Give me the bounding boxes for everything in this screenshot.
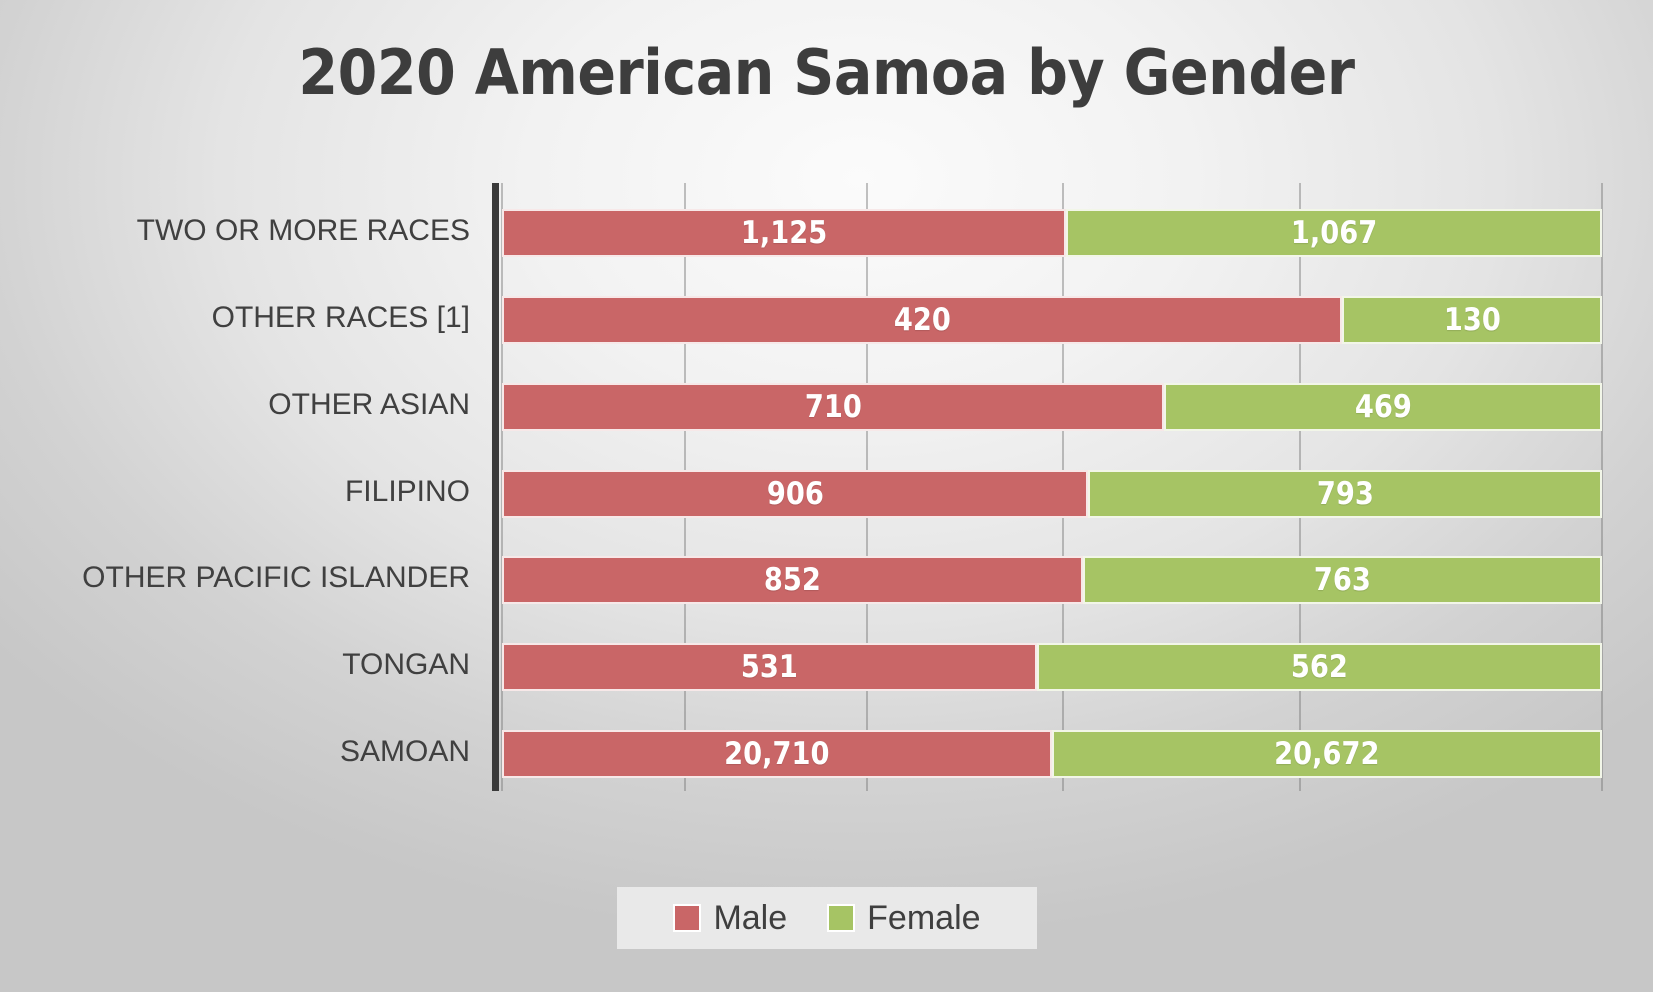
- category-axis: TWO OR MORE RACESOTHER RACES [1]OTHER AS…: [0, 183, 494, 791]
- category-label-6: SAMOAN: [0, 737, 470, 767]
- bar-value-label-female: 20,672: [1274, 736, 1379, 772]
- bar-segment-female[interactable]: 562: [1037, 643, 1602, 691]
- bar-value-label-male: 710: [805, 389, 862, 425]
- category-label-3: FILIPINO: [0, 477, 470, 507]
- bar-segment-male[interactable]: 20,710: [502, 730, 1052, 778]
- bar-value-label-male: 906: [767, 476, 824, 512]
- bar-segment-male[interactable]: 906: [502, 470, 1088, 518]
- bar-row[interactable]: 710469: [502, 383, 1602, 431]
- legend-swatch-icon: [827, 904, 855, 932]
- bar-row[interactable]: 531562: [502, 643, 1602, 691]
- category-label-4: OTHER PACIFIC ISLANDER: [0, 563, 470, 593]
- bar-segment-female[interactable]: 763: [1083, 556, 1602, 604]
- plot-area: 1,1251,067420130710469906793852763531562…: [502, 183, 1602, 791]
- legend-swatch-icon: [673, 904, 701, 932]
- bar-row[interactable]: 20,71020,672: [502, 730, 1602, 778]
- category-label-1: OTHER RACES [1]: [0, 303, 470, 333]
- bar-value-label-male: 420: [894, 302, 951, 338]
- bar-segment-female[interactable]: 793: [1088, 470, 1602, 518]
- bar-value-label-male: 1,125: [741, 215, 827, 251]
- chart-title: 2020 American Samoa by Gender: [66, 36, 1587, 109]
- bar-value-label-female: 130: [1444, 302, 1501, 338]
- category-label-2: OTHER ASIAN: [0, 390, 470, 420]
- bar-row[interactable]: 1,1251,067: [502, 209, 1602, 257]
- bar-value-label-male: 531: [741, 649, 798, 685]
- bar-segment-male[interactable]: 852: [502, 556, 1083, 604]
- category-label-0: TWO OR MORE RACES: [0, 216, 470, 246]
- bar-value-label-female: 469: [1355, 389, 1412, 425]
- bar-segment-male[interactable]: 420: [502, 296, 1342, 344]
- category-label-5: TONGAN: [0, 650, 470, 680]
- bar-segment-male[interactable]: 710: [502, 383, 1164, 431]
- bar-value-label-female: 562: [1291, 649, 1348, 685]
- bar-segment-male[interactable]: 531: [502, 643, 1037, 691]
- bar-value-label-female: 793: [1317, 476, 1374, 512]
- legend-item-male[interactable]: Male: [673, 901, 787, 935]
- bar-segment-male[interactable]: 1,125: [502, 209, 1066, 257]
- bar-segment-female[interactable]: 130: [1342, 296, 1602, 344]
- bar-value-label-male: 20,710: [724, 736, 829, 772]
- chart-slide: 2020 American Samoa by Gender TWO OR MOR…: [0, 0, 1653, 992]
- legend-item-female[interactable]: Female: [827, 901, 980, 935]
- bar-segment-female[interactable]: 1,067: [1066, 209, 1602, 257]
- bar-value-label-male: 852: [764, 562, 821, 598]
- legend-label: Male: [713, 901, 787, 935]
- bar-value-label-female: 763: [1314, 562, 1371, 598]
- chart-legend: MaleFemale: [617, 887, 1037, 949]
- bar-row[interactable]: 852763: [502, 556, 1602, 604]
- bar-row[interactable]: 420130: [502, 296, 1602, 344]
- bar-value-label-female: 1,067: [1291, 215, 1377, 251]
- bar-segment-female[interactable]: 20,672: [1052, 730, 1602, 778]
- bar-segment-female[interactable]: 469: [1164, 383, 1602, 431]
- bar-row[interactable]: 906793: [502, 470, 1602, 518]
- vertical-axis-line: [492, 183, 499, 791]
- legend-label: Female: [867, 901, 980, 935]
- chart-plot-wrapper: TWO OR MORE RACESOTHER RACES [1]OTHER AS…: [0, 183, 1653, 791]
